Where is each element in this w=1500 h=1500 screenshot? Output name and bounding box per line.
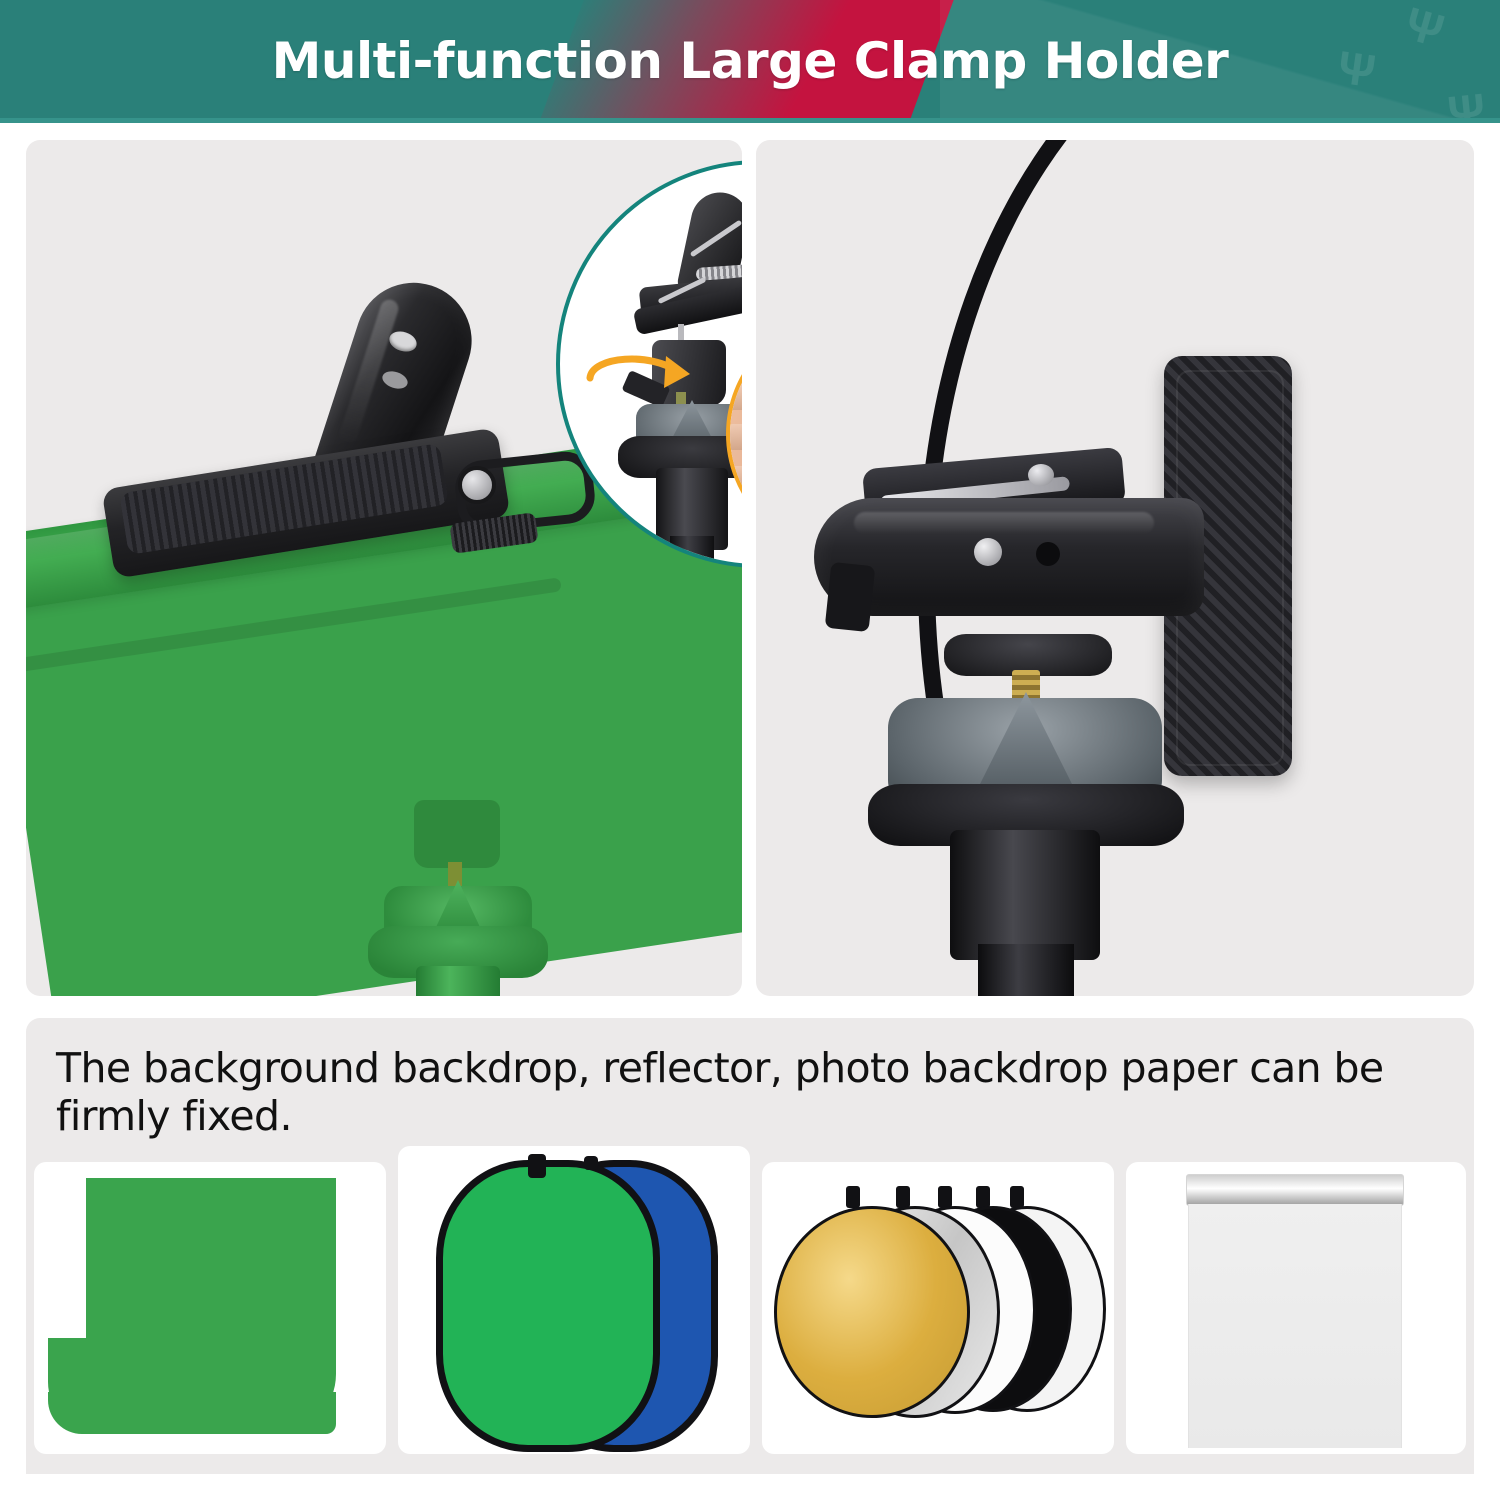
green-tinted-stand <box>356 800 556 996</box>
paper-roll-core <box>1186 1174 1404 1206</box>
mini-clamp <box>634 192 742 342</box>
ball-head-assembly <box>866 634 1196 934</box>
photo-panels <box>26 140 1474 996</box>
photo-clamp-on-green-backdrop <box>26 140 742 996</box>
banner-underline <box>0 118 1500 123</box>
reflector-clip-icon <box>846 1186 860 1208</box>
product-infographic: Ψ Ψ Ψ Multi-function Large Clamp Holder <box>0 0 1500 1500</box>
paper-roll-sheet <box>1188 1204 1402 1448</box>
rotate-arrow-icon <box>582 348 700 408</box>
clamp-pivot-screw-icon <box>458 466 496 504</box>
clamp-body <box>814 498 1204 616</box>
ball-head <box>414 800 500 868</box>
reflector-clip-icon <box>896 1186 910 1208</box>
clamp-hole-icon <box>1036 542 1060 566</box>
clamp-top-screw-icon <box>1028 464 1054 486</box>
finger <box>726 424 742 450</box>
thumbnail-backdrop-paper-roll[interactable] <box>1126 1162 1466 1454</box>
stand-tube <box>950 830 1100 960</box>
stand-tube <box>416 966 500 996</box>
thumbnail-green-screen-backdrop[interactable] <box>34 1162 386 1454</box>
green-backdrop-floor <box>48 1392 336 1434</box>
stand-pole <box>978 944 1074 996</box>
chromakey-green-side <box>436 1160 660 1452</box>
reflector-clip-icon <box>976 1186 990 1208</box>
banner-title: Multi-function Large Clamp Holder <box>0 0 1500 122</box>
stand-pole <box>670 536 714 568</box>
clamp-left <box>106 280 586 600</box>
finger <box>726 384 742 410</box>
finger <box>726 508 742 534</box>
clamp-side-screw-icon <box>974 538 1002 566</box>
thumbnail-five-in-one-reflector-discs[interactable] <box>762 1162 1114 1454</box>
panel-hanging-tab <box>528 1154 546 1178</box>
clamp-tail <box>825 562 876 632</box>
photo-clamp-on-reflector-rim <box>756 140 1474 996</box>
header-banner: Ψ Ψ Ψ Multi-function Large Clamp Holder <box>0 0 1500 122</box>
thumbnail-strip <box>26 1142 1474 1474</box>
thumbnail-collapsible-chromakey-panel[interactable] <box>398 1146 750 1454</box>
panel-hanging-tab <box>584 1156 598 1170</box>
magnifier-bubble <box>726 314 742 554</box>
reflector-disc-gold <box>774 1206 970 1418</box>
caption-text: The background backdrop, reflector, phot… <box>26 1018 1474 1142</box>
reflector-clip-icon <box>1010 1186 1024 1208</box>
reflector-clip-icon <box>938 1186 952 1208</box>
